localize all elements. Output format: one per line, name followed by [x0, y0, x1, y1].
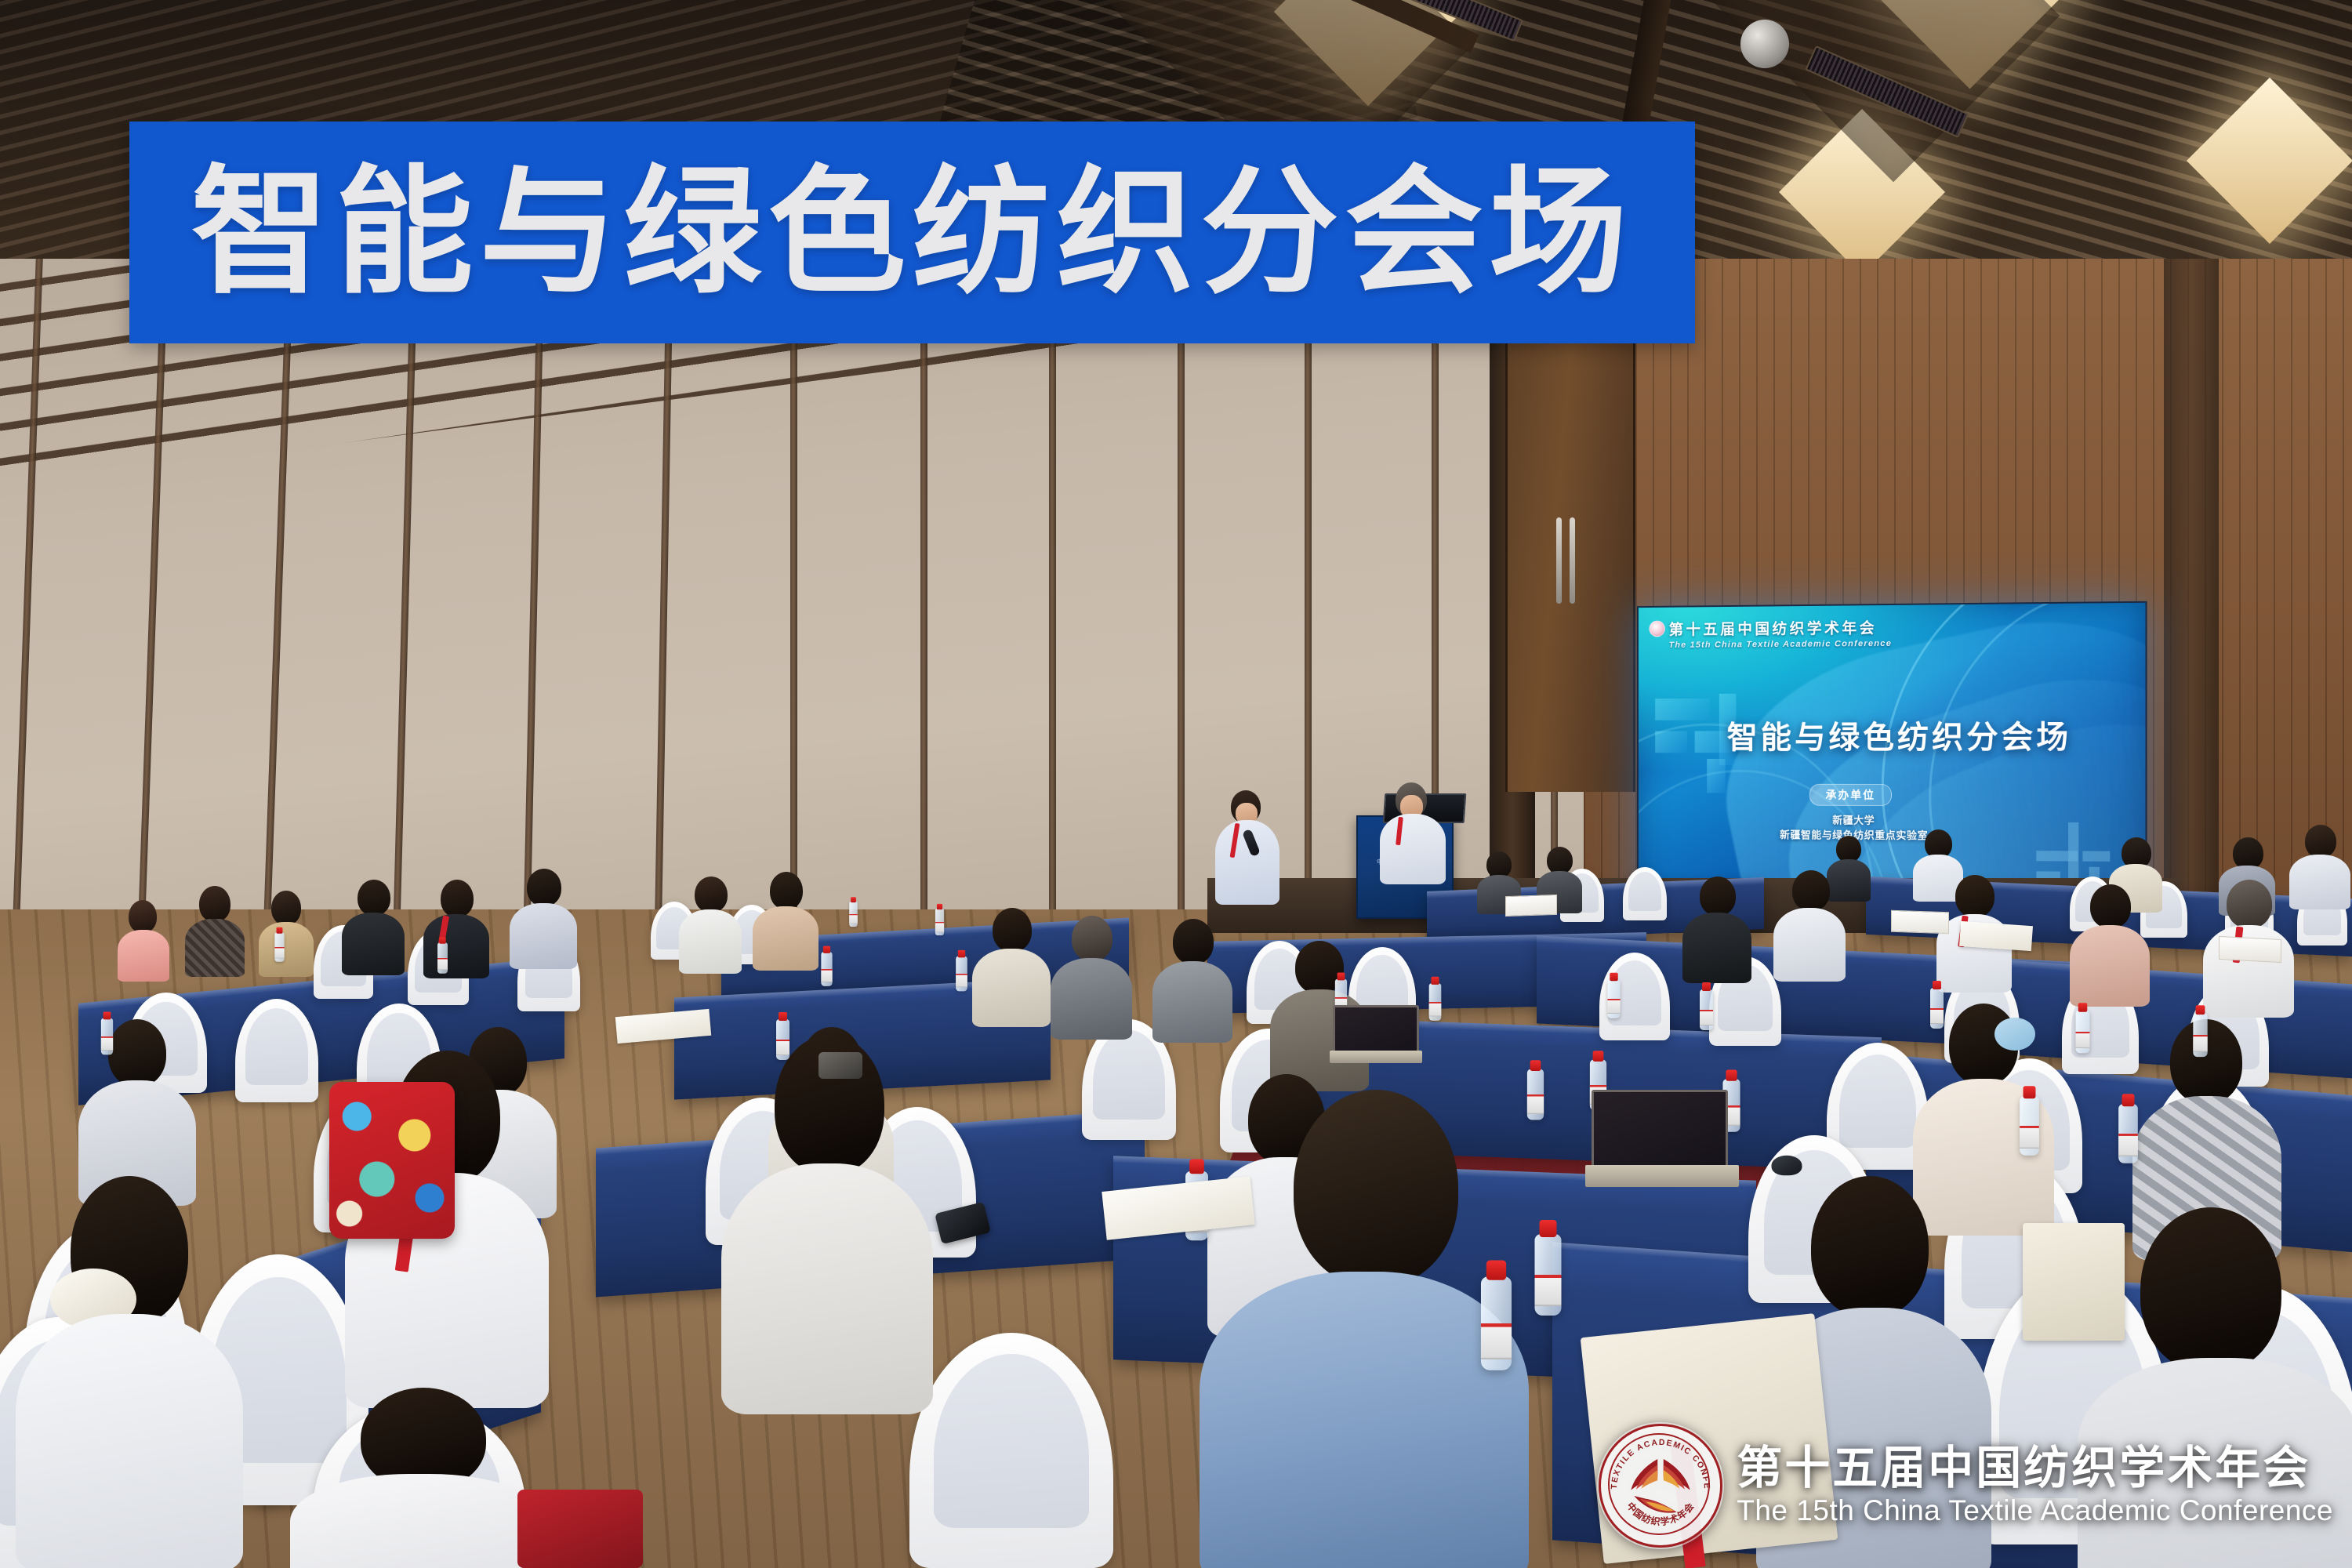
audience-member — [423, 880, 489, 974]
logo-emblem-icon — [1624, 1447, 1697, 1521]
wall-post — [920, 259, 927, 964]
water-bottle — [2193, 1013, 2207, 1057]
conference-logo: CHINA TEXTILE ACADEMIC CONFERENCE 中国纺织学术… — [1599, 1424, 1722, 1548]
audience-member-foreground — [721, 1035, 933, 1403]
audience-member — [972, 908, 1051, 1022]
screen-conference-header: 第十五届中国纺织学术年会 The 15th China Textile Acad… — [1649, 616, 1892, 650]
watermark-title-cn: 第十五届中国纺织学术年会 — [1737, 1444, 2333, 1492]
torso — [1682, 913, 1751, 983]
conference-logo-icon — [1649, 621, 1664, 637]
water-bottle — [1607, 979, 1620, 1018]
table-name-card — [1505, 895, 1557, 916]
headline-banner: 智能与绿色纺织分会场 — [129, 122, 1695, 343]
torso — [2289, 855, 2350, 909]
conference-photo: 第十五届中国纺织学术年会 The 15th China Textile Acad… — [0, 0, 2352, 1568]
head — [993, 908, 1032, 952]
head — [527, 869, 561, 906]
water-bottle — [1429, 983, 1442, 1021]
torso — [342, 913, 405, 975]
conference-watermark: CHINA TEXTILE ACADEMIC CONFERENCE 中国纺织学术… — [1599, 1424, 2333, 1548]
head — [2140, 1207, 2281, 1372]
water-bottle — [1700, 989, 1713, 1030]
presenter-with-microphone — [1212, 790, 1283, 900]
wall-post — [790, 259, 797, 964]
water-bottle — [437, 942, 448, 974]
torso — [1773, 908, 1846, 982]
water-bottle — [849, 902, 858, 927]
audience-member — [753, 872, 818, 966]
computer-mouse[interactable] — [1772, 1156, 1802, 1176]
torso — [118, 930, 169, 982]
torso — [510, 903, 577, 969]
head — [2090, 884, 2131, 928]
audience-member — [679, 877, 742, 969]
head — [1173, 919, 1214, 964]
wall-post — [1305, 259, 1312, 964]
torso — [16, 1314, 243, 1568]
screen-organizer-line1: 新疆大学 — [1722, 813, 1987, 829]
torso — [679, 909, 742, 974]
water-bottle — [1527, 1069, 1544, 1120]
head — [1547, 847, 1573, 874]
water-bottle — [935, 909, 944, 935]
laptop-screen — [1333, 1005, 1419, 1055]
ceiling-smoke-detector — [1740, 20, 1789, 68]
led-presentation-screen: 第十五届中国纺织学术年会 The 15th China Textile Acad… — [1637, 601, 2147, 917]
audience-member — [118, 900, 169, 975]
torso — [1200, 1272, 1529, 1568]
wall-post — [1178, 259, 1185, 964]
table-name-card — [1891, 910, 1949, 935]
door-handle[interactable] — [1556, 517, 1562, 604]
audience-member — [1051, 916, 1132, 1033]
water-bottle — [821, 952, 832, 986]
head — [1811, 1176, 1929, 1317]
audience-member — [342, 880, 405, 971]
head — [441, 880, 474, 917]
torso — [423, 914, 489, 978]
torso — [972, 949, 1051, 1027]
water-bottle — [956, 956, 967, 992]
audience-member — [1773, 870, 1846, 977]
audience-member — [259, 891, 314, 972]
head — [1836, 836, 1861, 862]
hair-scrunchie — [1994, 1018, 2035, 1051]
paper-document — [1959, 921, 2033, 951]
torso — [1380, 814, 1446, 884]
water-bottle — [2118, 1104, 2138, 1163]
laptop-keyboard[interactable] — [1330, 1051, 1422, 1063]
head — [695, 877, 728, 913]
speaker-at-podium — [1378, 782, 1447, 877]
wall-dark-column — [2164, 259, 2219, 964]
head — [2227, 880, 2272, 928]
audience-member — [510, 869, 577, 964]
screen-conference-title-en: The 15th China Textile Academic Conferen… — [1669, 639, 1892, 650]
torso — [1152, 961, 1232, 1043]
torso — [2070, 925, 2150, 1007]
conference-tote-bag — [2023, 1223, 2125, 1341]
audience-member-foreground — [1200, 1090, 1529, 1568]
water-bottle — [1535, 1234, 1562, 1316]
torso — [185, 919, 245, 977]
audience-member — [1152, 919, 1232, 1036]
head — [271, 891, 301, 925]
patterned-backpack — [329, 1082, 455, 1239]
screen-conference-title-cn: 第十五届中国纺织学术年会 — [1669, 616, 1877, 639]
head — [1955, 875, 1994, 917]
door-handle[interactable] — [1570, 517, 1575, 604]
torso — [721, 1163, 933, 1414]
audience-member — [1682, 877, 1751, 978]
head — [1700, 877, 1736, 916]
torso — [753, 906, 818, 971]
audience-member — [2070, 884, 2150, 1002]
screen-motif-square — [1655, 699, 1710, 720]
head — [2233, 837, 2263, 869]
torso — [1051, 958, 1132, 1040]
screen-motif-square — [1655, 731, 1687, 753]
water-bottle — [2020, 1096, 2039, 1155]
water-bottle — [1481, 1276, 1512, 1370]
screen-session-title: 智能与绿色纺织分会场 — [1711, 711, 2087, 757]
torso — [259, 922, 314, 977]
water-bottle — [776, 1019, 789, 1060]
audience-member-foreground — [290, 1388, 549, 1568]
audience-member — [78, 1019, 196, 1200]
laptop-screen — [1592, 1090, 1728, 1170]
headline-banner-text: 智能与绿色纺织分会场 — [191, 164, 1633, 302]
head — [1486, 851, 1512, 878]
head — [199, 886, 230, 922]
head — [770, 872, 803, 909]
torso — [290, 1474, 549, 1568]
screen-motif-square — [1707, 759, 1725, 793]
head — [1072, 916, 1112, 961]
head — [129, 900, 157, 933]
screen-organizer-label: 承办单位 — [1809, 784, 1892, 806]
head — [1294, 1090, 1458, 1286]
watermark-title-en: The 15th China Textile Academic Conferen… — [1737, 1495, 2333, 1527]
water-bottle — [274, 932, 284, 961]
hair-clip — [818, 1052, 862, 1079]
water-bottle — [2076, 1011, 2090, 1054]
laptop[interactable] — [1333, 1005, 1421, 1069]
audience-member — [2289, 825, 2350, 903]
wall-post — [1049, 259, 1056, 964]
head — [1792, 870, 1830, 911]
audience-member-foreground — [16, 1176, 243, 1568]
head — [2305, 825, 2336, 858]
audience-member — [185, 886, 245, 972]
water-bottle — [1930, 988, 1944, 1029]
laptop-keyboard[interactable] — [1585, 1165, 1739, 1187]
watermark-text-block: 第十五届中国纺织学术年会 The 15th China Textile Acad… — [1737, 1444, 2333, 1527]
table-name-card — [2219, 936, 2281, 963]
red-tote-bag — [517, 1490, 643, 1568]
head — [358, 880, 390, 916]
water-bottle — [101, 1018, 113, 1055]
laptop[interactable] — [1592, 1090, 1733, 1192]
head — [108, 1019, 166, 1087]
